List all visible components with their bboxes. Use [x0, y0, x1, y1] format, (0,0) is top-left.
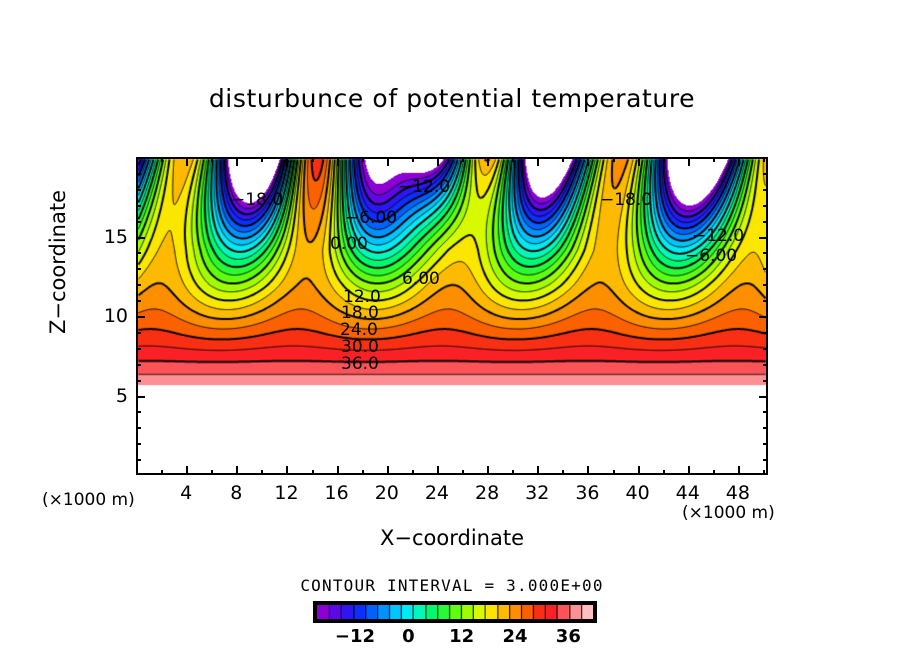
y-tick-11 [136, 300, 141, 302]
x-tick-label-24: 24 [425, 482, 449, 504]
x-tick-24 [437, 466, 439, 475]
y-tick-label-15: 15 [84, 226, 128, 248]
colorbar-tick-0: −12 [335, 626, 375, 647]
x-tick-top-18 [362, 157, 364, 162]
x-tick-18 [362, 470, 364, 475]
x-tick-36 [587, 466, 589, 475]
x-tick-top-28 [487, 157, 489, 166]
y-tick-3 [136, 427, 141, 429]
x-tick-top-20 [387, 157, 389, 166]
x-tick-label-36: 36 [575, 482, 599, 504]
x-tick-top-34 [562, 157, 564, 162]
y-tick-5 [136, 396, 145, 398]
y-tick-right-5 [759, 396, 768, 398]
y-tick-right-17 [763, 205, 768, 207]
x-tick-8 [236, 466, 238, 475]
y-tick-right-3 [763, 427, 768, 429]
x-tick-top-6 [211, 157, 213, 162]
y-tick-17 [136, 205, 141, 207]
x-tick-label-48: 48 [726, 482, 750, 504]
y-tick-1 [136, 459, 141, 461]
y-tick-2 [136, 443, 141, 445]
x-tick-label-40: 40 [625, 482, 649, 504]
y-tick-6 [136, 380, 141, 382]
x-tick-top-16 [337, 157, 339, 166]
y-tick-16 [136, 221, 141, 223]
x-tick-46 [713, 470, 715, 475]
x-tick-top-22 [412, 157, 414, 162]
x-tick-28 [487, 466, 489, 475]
colorbar-tick-2: 12 [449, 626, 474, 647]
x-tick-top-50 [763, 157, 765, 162]
x-tick-label-28: 28 [475, 482, 499, 504]
x-tick-label-32: 32 [525, 482, 549, 504]
x-tick-30 [512, 470, 514, 475]
y-tick-right-1 [763, 459, 768, 461]
x-tick-22 [412, 470, 414, 475]
x-tick-4 [186, 466, 188, 475]
x-tick-6 [211, 470, 213, 475]
y-tick-right-10 [759, 316, 768, 318]
x-tick-top-24 [437, 157, 439, 166]
x-tick-2 [161, 470, 163, 475]
y-tick-right-13 [763, 268, 768, 270]
colorbar-tick-4: 36 [556, 626, 581, 647]
x-tick-44 [688, 466, 690, 475]
y-axis-title: Z−coordinate [46, 162, 70, 362]
y-tick-18 [136, 189, 141, 191]
y-tick-right-16 [763, 221, 768, 223]
y-tick-12 [136, 284, 141, 286]
y-tick-label-5: 5 [84, 385, 128, 407]
y-tick-right-2 [763, 443, 768, 445]
x-tick-48 [738, 466, 740, 475]
colorbar-canvas [317, 605, 593, 619]
contour-interval-caption: CONTOUR INTERVAL = 3.000E+00 [0, 576, 904, 595]
x-tick-top-10 [261, 157, 263, 162]
x-tick-top-14 [312, 157, 314, 162]
y-tick-4 [136, 411, 141, 413]
x-tick-top-30 [512, 157, 514, 162]
y-tick-right-7 [763, 364, 768, 366]
x-tick-14 [312, 470, 314, 475]
page-title: disturbunce of potential temperature [0, 84, 904, 113]
colorbar [313, 601, 597, 623]
contour-field-canvas [138, 159, 766, 473]
x-tick-12 [286, 466, 288, 475]
y-tick-right-6 [763, 380, 768, 382]
x-tick-top-38 [613, 157, 615, 162]
x-tick-50 [763, 470, 765, 475]
x-tick-top-46 [713, 157, 715, 162]
y-tick-19 [136, 173, 141, 175]
x-tick-16 [337, 466, 339, 475]
x-tick-20 [387, 466, 389, 475]
x-tick-top-2 [161, 157, 163, 162]
contour-plot-area [136, 157, 768, 475]
y-tick-right-8 [763, 348, 768, 350]
x-tick-top-12 [286, 157, 288, 166]
y-tick-9 [136, 332, 141, 334]
x-tick-top-26 [462, 157, 464, 162]
x-tick-top-36 [587, 157, 589, 166]
colorbar-tick-3: 24 [502, 626, 527, 647]
y-tick-label-10: 10 [84, 305, 128, 327]
x-tick-top-8 [236, 157, 238, 166]
x-tick-34 [562, 470, 564, 475]
x-axis-unit-left: (×1000 m) [42, 490, 135, 510]
x-tick-label-8: 8 [230, 482, 242, 504]
y-tick-right-19 [763, 173, 768, 175]
x-tick-top-40 [638, 157, 640, 166]
y-tick-15 [136, 237, 145, 239]
x-tick-top-48 [738, 157, 740, 166]
y-tick-right-9 [763, 332, 768, 334]
y-tick-13 [136, 268, 141, 270]
x-tick-26 [462, 470, 464, 475]
y-tick-right-4 [763, 411, 768, 413]
x-tick-label-20: 20 [375, 482, 399, 504]
x-tick-top-44 [688, 157, 690, 166]
x-axis-unit-right: (×1000 m) [682, 503, 775, 523]
y-tick-8 [136, 348, 141, 350]
y-tick-right-12 [763, 284, 768, 286]
y-tick-right-11 [763, 300, 768, 302]
x-tick-42 [663, 470, 665, 475]
x-tick-38 [613, 470, 615, 475]
y-tick-7 [136, 364, 141, 366]
x-tick-top-32 [537, 157, 539, 166]
y-tick-14 [136, 252, 141, 254]
y-tick-right-14 [763, 252, 768, 254]
figure-root: disturbunce of potential temperature 481… [0, 0, 904, 654]
x-tick-10 [261, 470, 263, 475]
x-tick-label-12: 12 [274, 482, 298, 504]
y-tick-10 [136, 316, 145, 318]
x-tick-32 [537, 466, 539, 475]
y-tick-right-18 [763, 189, 768, 191]
x-tick-label-16: 16 [325, 482, 349, 504]
x-tick-top-42 [663, 157, 665, 162]
colorbar-tick-1: 0 [402, 626, 415, 647]
x-axis-title: X−coordinate [0, 526, 904, 550]
x-tick-40 [638, 466, 640, 475]
x-tick-label-4: 4 [180, 482, 192, 504]
x-tick-top-4 [186, 157, 188, 166]
x-tick-label-44: 44 [676, 482, 700, 504]
y-tick-right-15 [759, 237, 768, 239]
